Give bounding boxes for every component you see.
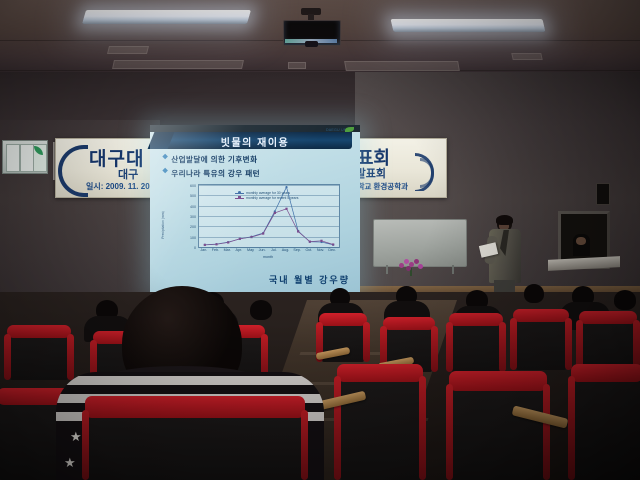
ceiling-vent bbox=[511, 53, 542, 60]
orchid-plant bbox=[398, 258, 424, 276]
ceiling-projector-icon bbox=[283, 8, 339, 46]
screen-glare bbox=[150, 125, 360, 292]
seat bbox=[452, 380, 544, 480]
audience-head bbox=[614, 290, 636, 310]
fluorescent-light-left-icon bbox=[82, 10, 251, 24]
lecture-hall-photo: 대구대 대구 일시: 2009. 11. 20(금) 발표회 발표회 : 대구대… bbox=[0, 0, 640, 480]
ceiling-vent bbox=[344, 61, 460, 71]
whiteboard-leg bbox=[452, 265, 454, 274]
ceiling-vent bbox=[107, 46, 149, 54]
banner-wave-icon bbox=[394, 149, 440, 191]
ceiling-vent bbox=[288, 62, 306, 69]
seat bbox=[340, 372, 420, 480]
seat bbox=[88, 406, 302, 480]
ceiling-vent bbox=[112, 60, 244, 69]
projection-screen: DAEGU UNIV. 빗물의 재이용 ❖ 산업발달에 의한 기후변화 ❖ 우리… bbox=[150, 125, 360, 292]
wall-speaker bbox=[596, 183, 610, 205]
wall-poster-frame bbox=[2, 140, 48, 174]
banner-swoosh-icon bbox=[58, 143, 88, 191]
seat bbox=[452, 318, 500, 372]
whiteboard-leg bbox=[386, 265, 388, 274]
seat bbox=[574, 372, 640, 480]
seat bbox=[516, 314, 566, 370]
banner-left-subtitle: 대구 bbox=[118, 166, 138, 182]
banner-right-subtitle: 발표회 bbox=[356, 165, 386, 181]
audience-head bbox=[524, 284, 544, 303]
fluorescent-light-right-icon bbox=[390, 19, 545, 32]
